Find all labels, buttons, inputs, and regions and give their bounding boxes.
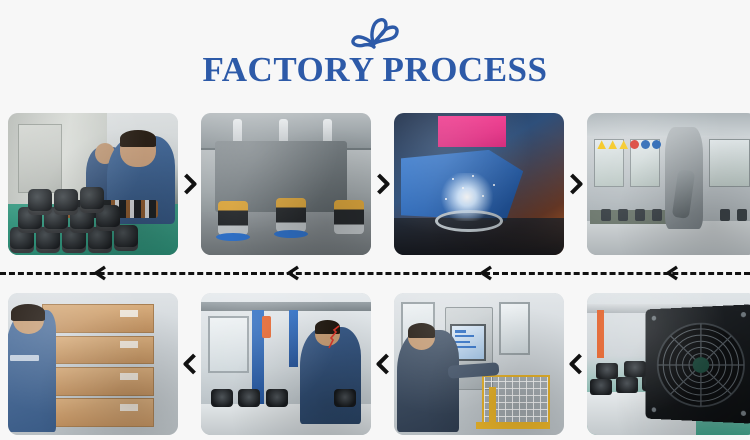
arrow-left-icon xyxy=(665,265,679,281)
arrow-left-icon xyxy=(479,265,493,281)
chevron-left-icon xyxy=(183,353,196,375)
robotic-welding-sparks-photo xyxy=(394,113,564,255)
step-6-image xyxy=(201,293,371,435)
packing-cartons-photo xyxy=(8,293,178,435)
chevron-right-icon xyxy=(376,173,389,195)
process-step-4[interactable] xyxy=(587,113,750,255)
robot-welding-cell-photo xyxy=(587,113,750,255)
separator-3-4 xyxy=(564,113,587,255)
process-step-2[interactable] xyxy=(201,113,371,255)
process-step-8[interactable] xyxy=(587,293,750,435)
process-row-top xyxy=(0,113,750,255)
chevron-left-icon xyxy=(569,353,582,375)
process-step-7[interactable] xyxy=(394,293,564,435)
process-step-5[interactable] xyxy=(8,293,178,435)
banner-header: FACTORY PROCESS xyxy=(0,0,750,89)
chevron-right-icon xyxy=(569,173,582,195)
performance-testing-photo xyxy=(394,293,564,435)
company-logo xyxy=(0,14,750,50)
step-8-image xyxy=(587,293,750,435)
dashed-line xyxy=(0,272,750,275)
finished-axial-fan-photo xyxy=(587,293,750,435)
separator-7-8 xyxy=(564,293,587,435)
step-3-image xyxy=(394,113,564,255)
factory-process-banner: FACTORY PROCESS xyxy=(0,0,750,440)
arrow-left-icon xyxy=(93,265,107,281)
separator-6-7 xyxy=(371,293,394,435)
step-7-image xyxy=(394,293,564,435)
step-4-image xyxy=(587,113,750,255)
separator-1-2 xyxy=(178,113,201,255)
process-step-6[interactable] xyxy=(201,293,371,435)
process-step-1[interactable] xyxy=(8,113,178,255)
fan-petal-logo-icon xyxy=(344,14,406,50)
process-step-3[interactable] xyxy=(394,113,564,255)
automatic-winding-press-photo xyxy=(201,113,371,255)
step-5-image xyxy=(8,293,178,435)
chevron-right-icon xyxy=(183,173,196,195)
chevron-left-icon xyxy=(376,353,389,375)
process-row-bottom xyxy=(0,293,750,435)
arrow-left-icon xyxy=(286,265,300,281)
fan-assembly-line-photo xyxy=(201,293,371,435)
fan-grill-icon xyxy=(655,321,747,409)
separator-5-6 xyxy=(178,293,201,435)
process-flow-connector xyxy=(0,265,750,281)
stator-winding-assembly-photo xyxy=(8,113,178,255)
red-marker-squiggle-icon xyxy=(327,324,351,350)
step-2-image xyxy=(201,113,371,255)
separator-2-3 xyxy=(371,113,394,255)
page-title: FACTORY PROCESS xyxy=(0,52,750,89)
step-1-image xyxy=(8,113,178,255)
